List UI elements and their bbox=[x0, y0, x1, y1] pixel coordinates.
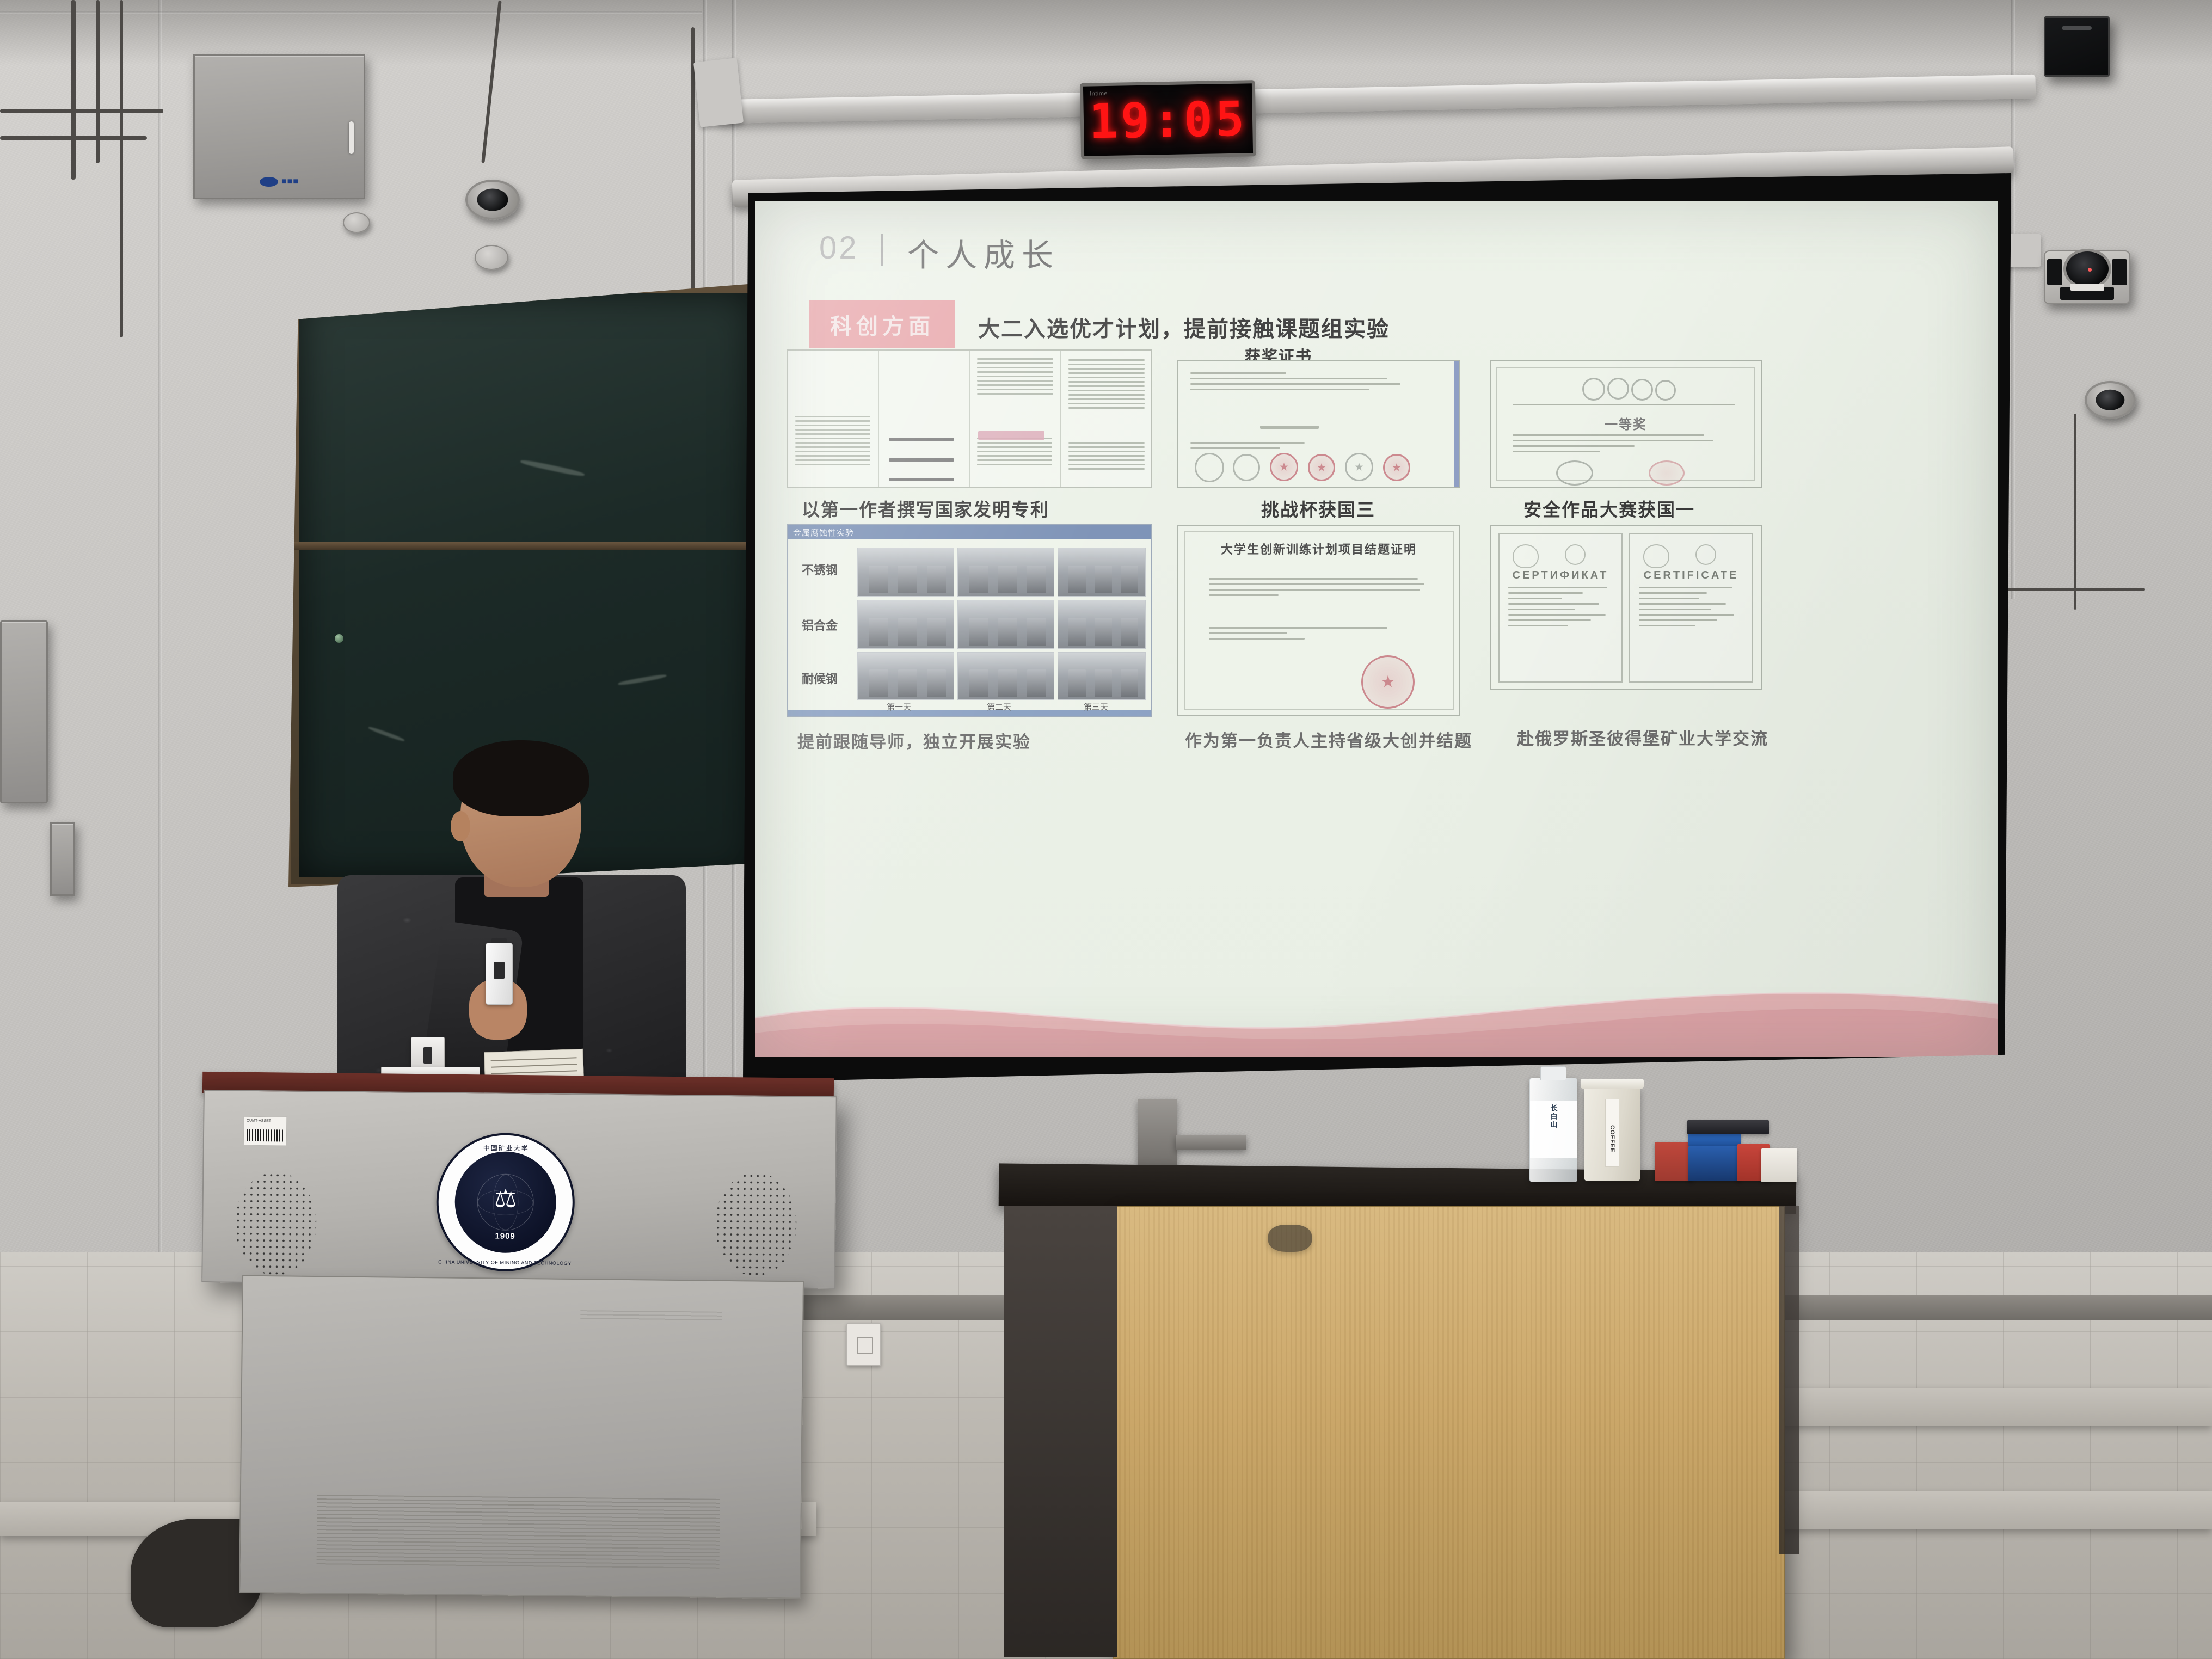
cumt-emblem-year: 1909 bbox=[495, 1232, 515, 1241]
first-prize-certificate: 一等奖 bbox=[1490, 360, 1762, 488]
camera-ir-led bbox=[2088, 268, 2092, 272]
wall-cable-3 bbox=[120, 0, 123, 337]
electrical-utility-box: ■■■ bbox=[193, 54, 365, 199]
experiment-cell-1-0 bbox=[857, 600, 954, 649]
patent-rule-3 bbox=[889, 478, 954, 481]
desk-box-white bbox=[1761, 1148, 1797, 1182]
first-prize-emblem-4 bbox=[1655, 380, 1676, 401]
english-certificate: CERTIFICATE bbox=[1629, 533, 1753, 683]
english-certificate-title: CERTIFICATE bbox=[1630, 569, 1752, 582]
coffee-cup-lid bbox=[1581, 1079, 1644, 1089]
experiment-table: 金属腐蚀性实验 不锈钢 铝合金 耐候钢 第一天 bbox=[787, 524, 1152, 717]
column3-certificate-title: 一等奖 bbox=[1491, 414, 1761, 433]
column2-top-caption: 挑战杯获国三 bbox=[1261, 495, 1375, 521]
camera-panel-right bbox=[2112, 259, 2127, 285]
column2-bottom-caption: 作为第一负责人主持省级大创并结题 bbox=[1185, 727, 1472, 752]
podium-speaker-grille-right bbox=[714, 1172, 797, 1277]
innovation-certificate-title: 大学生创新训练计划项目结题证明 bbox=[1178, 540, 1459, 557]
presenter-hair bbox=[453, 740, 589, 816]
experiment-table-header-label: 金属腐蚀性实验 bbox=[793, 527, 854, 538]
wall-panel-left bbox=[0, 620, 48, 803]
experiment-cell-1-2 bbox=[1058, 600, 1146, 649]
podium-vent-slot bbox=[580, 1310, 722, 1323]
wall-switch-left bbox=[50, 822, 75, 896]
front-table-leg-right bbox=[1779, 1206, 1799, 1554]
column1-bottom-caption: 提前跟随导师，独立开展实验 bbox=[797, 728, 1031, 753]
desk-box-blue bbox=[1688, 1146, 1741, 1181]
english-cert-seal bbox=[1695, 544, 1716, 565]
slide: 02 个人成长 科创方面 大二入选优才计划，提前接触课题组实验 bbox=[755, 201, 1998, 1057]
award-certificate-image: ★ ★ ★ ★ bbox=[1177, 360, 1460, 488]
wall-cable-h2 bbox=[0, 136, 147, 140]
slide-section-title: 个人成长 bbox=[907, 230, 1060, 275]
dome-camera-right bbox=[2085, 381, 2136, 419]
brand-blob-icon bbox=[260, 177, 278, 187]
speaker-slot bbox=[2062, 26, 2092, 30]
experiment-cell-0-2 bbox=[1058, 548, 1146, 597]
wall-power-outlet bbox=[846, 1323, 881, 1366]
security-camera-unit bbox=[2044, 250, 2130, 304]
experiment-cell-2-1 bbox=[957, 652, 1054, 700]
wall-sensor bbox=[343, 212, 370, 233]
bottle-cap bbox=[1540, 1066, 1566, 1080]
russian-certificate: СЕРТИФИКАТ bbox=[1498, 533, 1623, 683]
first-prize-seal-right bbox=[1649, 460, 1685, 486]
patent-document-image bbox=[787, 349, 1152, 488]
english-cert-emblem bbox=[1643, 544, 1669, 568]
dome-camera-left bbox=[465, 180, 520, 220]
asset-tag-barcode bbox=[247, 1129, 284, 1142]
clock-brand-label: Intime bbox=[1090, 90, 1108, 97]
box-handle bbox=[349, 121, 354, 154]
slide-section-number: 02 bbox=[819, 230, 859, 266]
certificate-seal-6: ★ bbox=[1383, 454, 1410, 481]
cumt-crossed-hammers-icon: ⚖ bbox=[494, 1185, 517, 1211]
table-clutter bbox=[1268, 1225, 1312, 1252]
presenter-ear bbox=[451, 811, 470, 841]
experiment-cell-0-0 bbox=[857, 548, 954, 597]
patent-rule-1 bbox=[889, 438, 954, 441]
podium-speaker-grille-left bbox=[234, 1172, 317, 1276]
certificate-accent-bar bbox=[1454, 361, 1459, 487]
russian-cert-seal bbox=[1565, 544, 1586, 565]
desk-box-red bbox=[1655, 1142, 1693, 1181]
innovation-certificate-seal: ★ bbox=[1361, 655, 1415, 709]
wall-speaker-right bbox=[2044, 16, 2110, 77]
charging-base-window bbox=[423, 1047, 433, 1063]
first-prize-emblem-2 bbox=[1607, 378, 1629, 400]
experiment-cell-2-0 bbox=[857, 652, 954, 700]
column3-top-caption: 安全作品大赛获国一 bbox=[1523, 495, 1695, 521]
lecture-hall-scene: ■■■ Intime 19:05 bbox=[0, 0, 2212, 1659]
experiment-col-label-0: 第一天 bbox=[887, 701, 911, 712]
innovation-project-certificate: 大学生创新训练计划项目结题证明 ★ bbox=[1177, 525, 1460, 716]
experiment-col-label-1: 第二天 bbox=[987, 701, 1011, 712]
column1-top-caption: 以第一作者撰写国家发明专利 bbox=[802, 495, 1049, 521]
wall-cable-1 bbox=[71, 0, 76, 180]
bottle-brand-text: 长白山 bbox=[1549, 1104, 1559, 1129]
box-brand-logo: ■■■ bbox=[260, 177, 299, 187]
first-prize-emblem-1 bbox=[1582, 378, 1605, 401]
table-wood-grain bbox=[1114, 1207, 1784, 1658]
desk-box-dark bbox=[1687, 1120, 1769, 1134]
experiment-cell-0-1 bbox=[957, 548, 1054, 597]
cumt-emblem: 中国矿业大学 CHINA UNIVERSITY OF MINING AND TE… bbox=[435, 1132, 575, 1272]
doc-column-rule-2 bbox=[969, 351, 970, 487]
projector-mount-arm bbox=[1176, 1135, 1246, 1150]
experiment-row-label-1: 铝合金 bbox=[802, 616, 838, 634]
clock-time-display: 19:05 bbox=[1089, 90, 1248, 149]
patent-highlight bbox=[978, 431, 1044, 440]
certificate-seal-2 bbox=[1233, 454, 1260, 481]
first-prize-seal-left bbox=[1556, 460, 1593, 486]
certificate-seal-3: ★ bbox=[1270, 453, 1298, 481]
asset-tag-text: CUMT-ASSET bbox=[247, 1119, 271, 1123]
experiment-row-label-0: 不锈钢 bbox=[802, 561, 838, 578]
wall-cable-6 bbox=[2074, 414, 2076, 610]
podium-asset-tag: CUMT-ASSET bbox=[243, 1116, 287, 1146]
front-table-body bbox=[1113, 1206, 1785, 1659]
certificate-seal-5: ★ bbox=[1345, 453, 1373, 481]
camera-lens-icon bbox=[2063, 249, 2111, 289]
experiment-cell-1-1 bbox=[957, 600, 1054, 649]
microphone-window bbox=[494, 962, 504, 979]
wireless-microphone[interactable] bbox=[486, 943, 513, 1005]
russian-certificate-title: СЕРТИФИКАТ bbox=[1500, 569, 1621, 582]
russian-cert-emblem bbox=[1513, 544, 1539, 568]
experiment-table-header: 金属腐蚀性实验 bbox=[788, 525, 1151, 539]
patent-rule-2 bbox=[889, 458, 954, 462]
coffee-cup-tag: COFFEE bbox=[1605, 1099, 1619, 1168]
slide-section-divider bbox=[881, 234, 883, 266]
experiment-cell-2-2 bbox=[1058, 652, 1146, 700]
doc-column-rule-3 bbox=[1060, 351, 1061, 487]
podium-lower-cabinet[interactable] bbox=[239, 1275, 804, 1599]
brand-text: ■■■ bbox=[281, 177, 299, 187]
podium-upper-cabinet[interactable]: CUMT-ASSET 中国矿业大学 CHINA UNIVERSITY OF MI… bbox=[201, 1090, 837, 1289]
projection-screen-surface[interactable]: 02 个人成长 科创方面 大二入选优才计划，提前接触课题组实验 bbox=[755, 201, 1998, 1057]
light-bracket-left bbox=[693, 58, 744, 127]
russian-exchange-certificates: СЕРТИФИКАТ CERTIFICATE bbox=[1490, 525, 1762, 690]
coffee-cup[interactable]: COFFEE bbox=[1584, 1087, 1640, 1181]
camera-panel-left bbox=[2047, 259, 2062, 285]
smoke-detector bbox=[475, 245, 508, 270]
front-table-leg-left bbox=[1004, 1206, 1117, 1657]
coffee-cup-label: COFFEE bbox=[1609, 1125, 1615, 1153]
water-bottle[interactable]: 长白山 bbox=[1529, 1078, 1577, 1182]
first-prize-emblem-3 bbox=[1631, 379, 1653, 401]
desk-box-pile[interactable] bbox=[1655, 1116, 1780, 1181]
podium-vent-grille bbox=[317, 1495, 720, 1570]
slide-headline: 大二入选优才计划，提前接触课题组实验 bbox=[978, 311, 1390, 343]
blackboard-divider bbox=[291, 542, 759, 550]
projection-screen-frame: 02 个人成长 科创方面 大二入选优才计划，提前接触课题组实验 bbox=[743, 173, 2011, 1082]
wall-cable-h1 bbox=[0, 109, 163, 113]
digital-wall-clock: Intime 19:05 bbox=[1080, 80, 1256, 159]
microphone-tip bbox=[491, 938, 508, 943]
cumt-emblem-en-text: CHINA UNIVERSITY OF MINING AND TECHNOLOG… bbox=[438, 1259, 572, 1266]
slide-wave-decoration bbox=[755, 954, 1998, 1057]
blackboard-knob bbox=[335, 634, 343, 643]
certificate-seal-4: ★ bbox=[1308, 454, 1335, 481]
bottle-label: 长白山 bbox=[1530, 1101, 1577, 1158]
wall-panel-seam-top bbox=[0, 11, 702, 14]
projector-mount-post bbox=[1138, 1099, 1177, 1170]
slide-pink-badge: 科创方面 bbox=[809, 300, 955, 348]
camera-label-sticker bbox=[2070, 284, 2104, 291]
doc-column-rule-1 bbox=[878, 351, 879, 487]
certificate-seal-1 bbox=[1195, 453, 1224, 482]
column3-bottom-caption: 赴俄罗斯圣彼得堡矿业大学交流 bbox=[1517, 725, 1768, 749]
experiment-row-label-2: 耐候钢 bbox=[802, 669, 838, 687]
experiment-col-label-2: 第三天 bbox=[1084, 701, 1108, 712]
